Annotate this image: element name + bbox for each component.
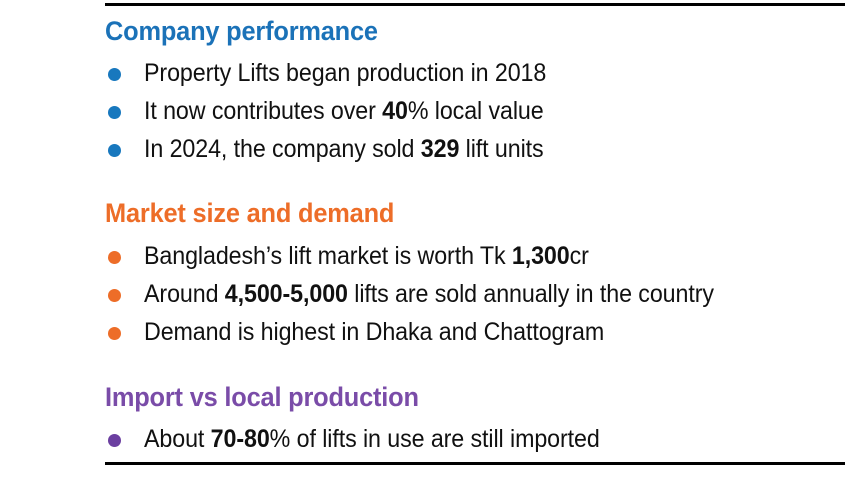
infographic-panel: Company performance Property Lifts began… bbox=[0, 0, 857, 482]
infographic-content: Company performance Property Lifts began… bbox=[105, 14, 850, 460]
bullet-list-market-size-and-demand: Bangladesh’s lift market is worth Tk 1,3… bbox=[105, 239, 850, 350]
list-item: It now contributes over 40% local value bbox=[105, 94, 850, 129]
list-item: Property Lifts began production in 2018 bbox=[105, 56, 850, 91]
section-company-performance: Company performance Property Lifts began… bbox=[105, 14, 850, 167]
bullet-dot-icon bbox=[108, 434, 121, 447]
bullet-dot-icon bbox=[108, 327, 121, 340]
bullet-dot-icon bbox=[108, 289, 121, 302]
section-heading-import-vs-local-production: Import vs local production bbox=[105, 384, 805, 411]
list-item-text: About 70-80% of lifts in use are still i… bbox=[144, 422, 600, 457]
section-market-size-and-demand: Market size and demand Bangladesh’s lift… bbox=[105, 170, 850, 350]
bottom-divider-rule bbox=[105, 462, 845, 465]
list-item-text: It now contributes over 40% local value bbox=[144, 94, 544, 129]
section-import-vs-local-production: Import vs local production About 70-80% … bbox=[105, 353, 850, 457]
bullet-dot-icon bbox=[108, 251, 121, 264]
list-item-text: Demand is highest in Dhaka and Chattogra… bbox=[144, 315, 604, 350]
bullet-dot-icon bbox=[108, 106, 121, 119]
bullet-dot-icon bbox=[108, 68, 121, 81]
list-item: Demand is highest in Dhaka and Chattogra… bbox=[105, 315, 850, 350]
section-heading-company-performance: Company performance bbox=[105, 18, 805, 45]
list-item: In 2024, the company sold 329 lift units bbox=[105, 132, 850, 167]
section-heading-market-size-and-demand: Market size and demand bbox=[105, 200, 805, 227]
list-item-text: Property Lifts began production in 2018 bbox=[144, 56, 546, 91]
bullet-list-company-performance: Property Lifts began production in 2018 … bbox=[105, 56, 850, 167]
list-item-text: Bangladesh’s lift market is worth Tk 1,3… bbox=[144, 239, 589, 274]
list-item-text: Around 4,500-5,000 lifts are sold annual… bbox=[144, 277, 714, 312]
top-divider-rule bbox=[105, 3, 845, 6]
bullet-dot-icon bbox=[108, 144, 121, 157]
list-item: About 70-80% of lifts in use are still i… bbox=[105, 422, 850, 457]
list-item: Around 4,500-5,000 lifts are sold annual… bbox=[105, 277, 850, 312]
bullet-list-import-vs-local-production: About 70-80% of lifts in use are still i… bbox=[105, 422, 850, 457]
list-item-text: In 2024, the company sold 329 lift units bbox=[144, 132, 544, 167]
list-item: Bangladesh’s lift market is worth Tk 1,3… bbox=[105, 239, 850, 274]
